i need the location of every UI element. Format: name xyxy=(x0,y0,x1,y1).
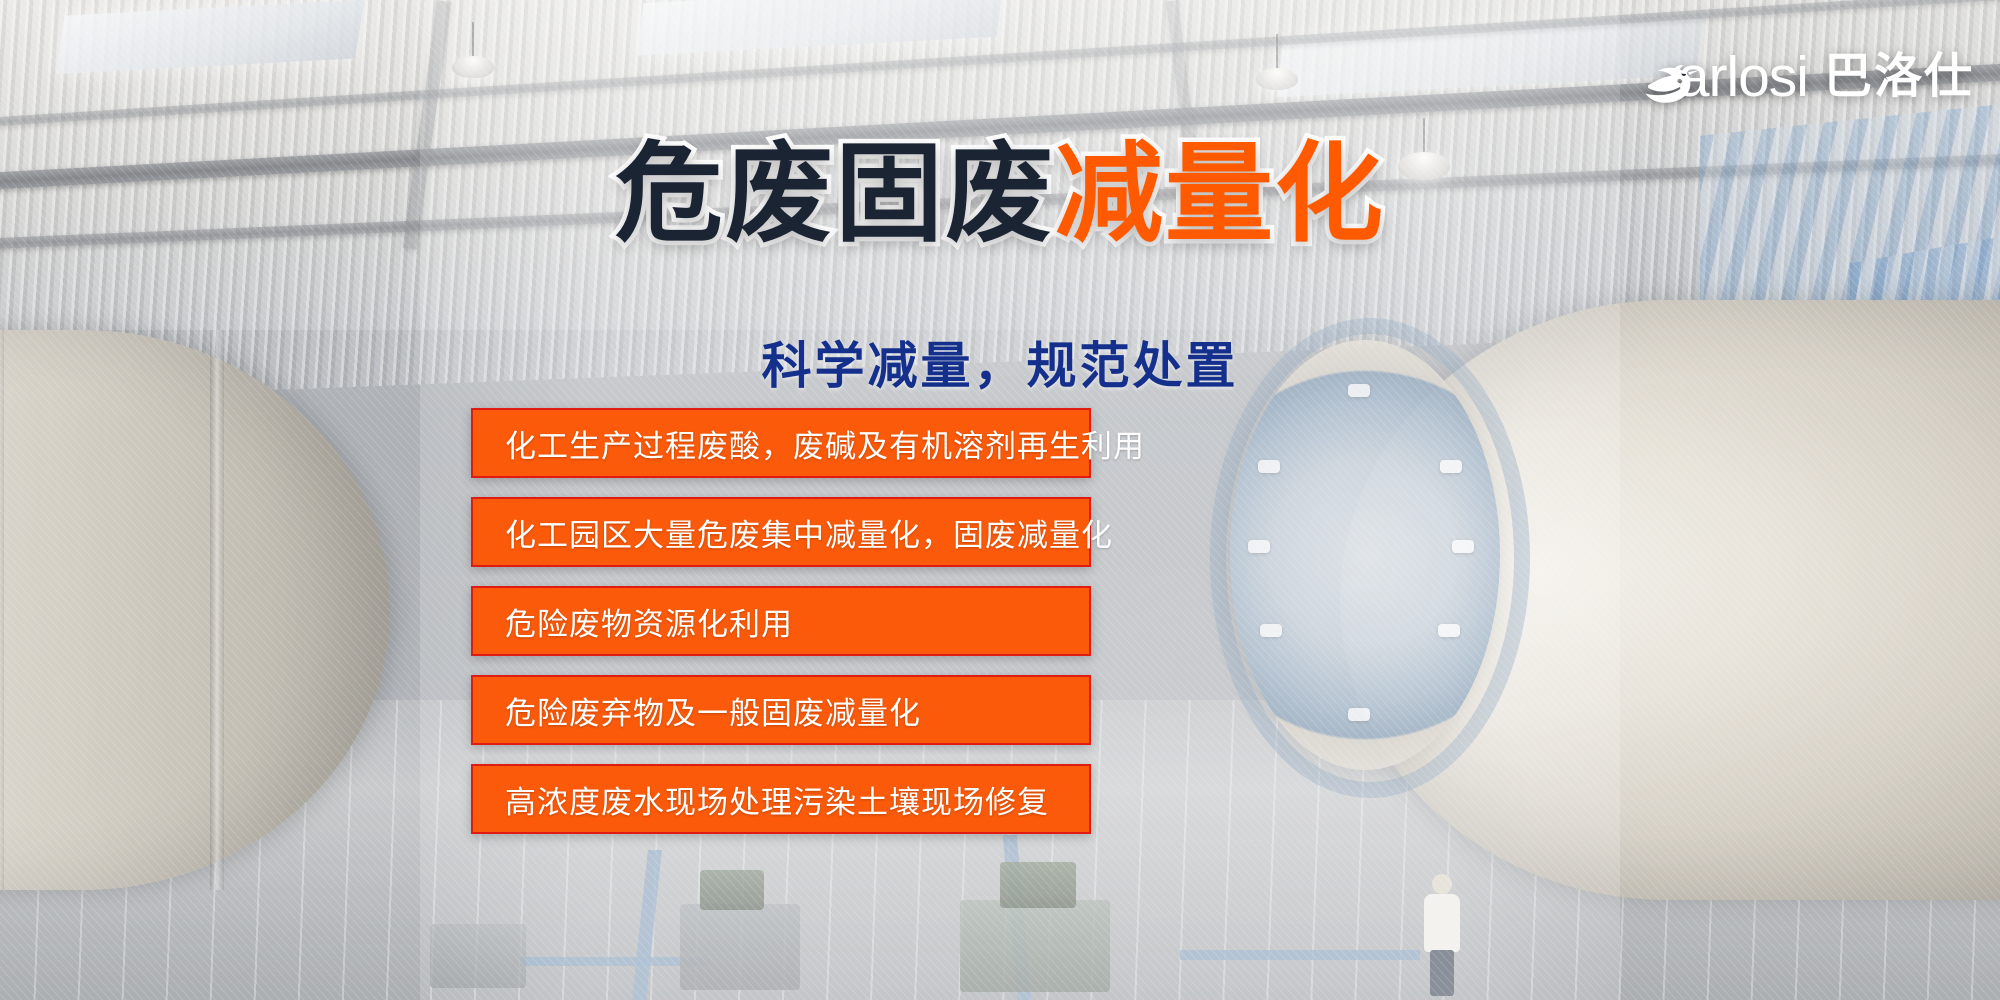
service-item[interactable]: 化工园区大量危废集中减量化，固废减量化 xyxy=(471,497,1091,567)
service-item-label: 化工生产过程废酸，废碱及有机溶剂再生利用 xyxy=(505,421,1145,466)
logo-wordmark: arlosi xyxy=(1678,49,1808,106)
service-item-label: 化工园区大量危废集中减量化，固废减量化 xyxy=(505,510,1113,555)
service-item-label: 高浓度废水现场处理污染土壤现场修复 xyxy=(505,777,1049,822)
banner-stage: arlosi 巴洛仕 危废固废减量化 科学减量，规范处置 化工生产过程废酸，废碱… xyxy=(0,0,2000,1000)
service-item[interactable]: 化工生产过程废酸，废碱及有机溶剂再生利用 xyxy=(471,408,1091,478)
logo-chinese-name: 巴洛仕 xyxy=(1824,53,1974,101)
service-item[interactable]: 高浓度废水现场处理污染土壤现场修复 xyxy=(471,764,1091,834)
page-title: 危废固废减量化 xyxy=(0,138,2000,250)
brand-logo[interactable]: arlosi 巴洛仕 xyxy=(1642,44,1974,110)
service-item[interactable]: 危险废物资源化利用 xyxy=(471,586,1091,656)
service-item-label: 危险废弃物及一般固废减量化 xyxy=(505,688,921,733)
service-item-label: 危险废物资源化利用 xyxy=(505,599,793,644)
title-accent-part: 减量化 xyxy=(1055,138,1385,250)
service-item[interactable]: 危险废弃物及一般固废减量化 xyxy=(471,675,1091,745)
page-subtitle: 科学减量，规范处置 xyxy=(0,326,2000,398)
title-dark-part: 危废固废 xyxy=(615,138,1055,250)
service-list: 化工生产过程废酸，废碱及有机溶剂再生利用 化工园区大量危废集中减量化，固废减量化… xyxy=(471,408,1091,834)
